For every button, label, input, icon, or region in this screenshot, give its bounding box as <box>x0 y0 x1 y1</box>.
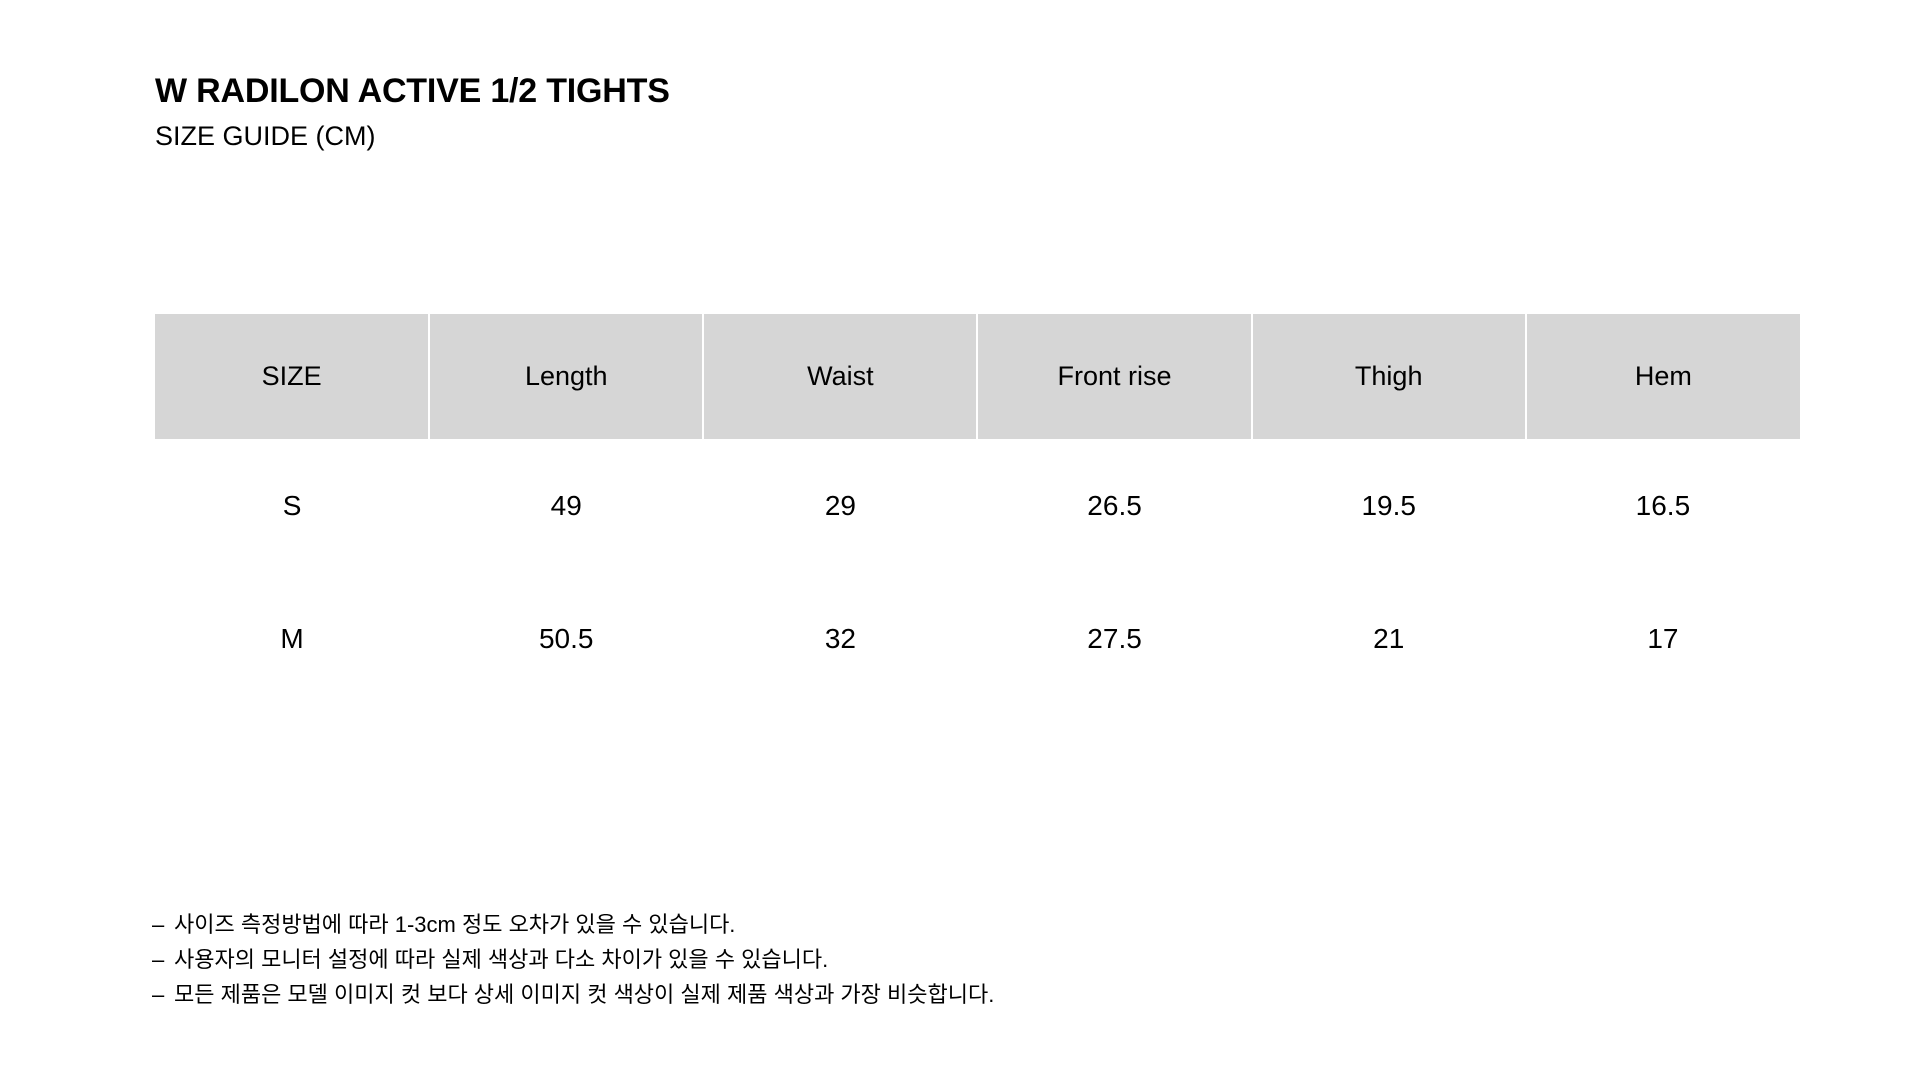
cell-length: 49 <box>429 439 703 572</box>
cell-hem: 16.5 <box>1526 439 1800 572</box>
cell-front-rise: 26.5 <box>977 439 1251 572</box>
cell-waist: 29 <box>703 439 977 572</box>
note-item: – 모든 제품은 모델 이미지 컷 보다 상세 이미지 컷 색상이 실제 제품 … <box>152 984 994 1006</box>
cell-waist: 32 <box>703 572 977 705</box>
note-text: 사이즈 측정방법에 따라 1-3cm 정도 오차가 있을 수 있습니다. <box>174 914 735 936</box>
page-title: W RADILON ACTIVE 1/2 TIGHTS <box>155 72 670 111</box>
note-dash-icon: – <box>152 949 174 971</box>
cell-length: 50.5 <box>429 572 703 705</box>
cell-thigh: 21 <box>1252 572 1526 705</box>
cell-size: M <box>155 572 429 705</box>
column-header-length: Length <box>429 314 703 439</box>
table-row: M 50.5 32 27.5 21 17 <box>155 572 1800 705</box>
size-guide-table: SIZE Length Waist Front rise Thigh Hem S… <box>155 314 1800 705</box>
table-row: S 49 29 26.5 19.5 16.5 <box>155 439 1800 572</box>
column-header-waist: Waist <box>703 314 977 439</box>
cell-hem: 17 <box>1526 572 1800 705</box>
column-header-front-rise: Front rise <box>977 314 1251 439</box>
page-subtitle: SIZE GUIDE (CM) <box>155 120 670 152</box>
table-body: S 49 29 26.5 19.5 16.5 M 50.5 32 27.5 21… <box>155 439 1800 705</box>
column-header-hem: Hem <box>1526 314 1800 439</box>
table-header: SIZE Length Waist Front rise Thigh Hem <box>155 314 1800 439</box>
column-header-thigh: Thigh <box>1252 314 1526 439</box>
cell-size: S <box>155 439 429 572</box>
page-heading: W RADILON ACTIVE 1/2 TIGHTS SIZE GUIDE (… <box>155 72 670 152</box>
note-item: – 사용자의 모니터 설정에 따라 실제 색상과 다소 차이가 있을 수 있습니… <box>152 949 994 971</box>
table-header-row: SIZE Length Waist Front rise Thigh Hem <box>155 314 1800 439</box>
note-text: 사용자의 모니터 설정에 따라 실제 색상과 다소 차이가 있을 수 있습니다. <box>174 949 828 971</box>
note-text: 모든 제품은 모델 이미지 컷 보다 상세 이미지 컷 색상이 실제 제품 색상… <box>174 984 994 1006</box>
note-item: – 사이즈 측정방법에 따라 1-3cm 정도 오차가 있을 수 있습니다. <box>152 914 994 936</box>
note-dash-icon: – <box>152 914 174 936</box>
cell-front-rise: 27.5 <box>977 572 1251 705</box>
column-header-size: SIZE <box>155 314 429 439</box>
cell-thigh: 19.5 <box>1252 439 1526 572</box>
note-dash-icon: – <box>152 984 174 1006</box>
disclaimer-notes: – 사이즈 측정방법에 따라 1-3cm 정도 오차가 있을 수 있습니다. –… <box>152 914 994 1006</box>
